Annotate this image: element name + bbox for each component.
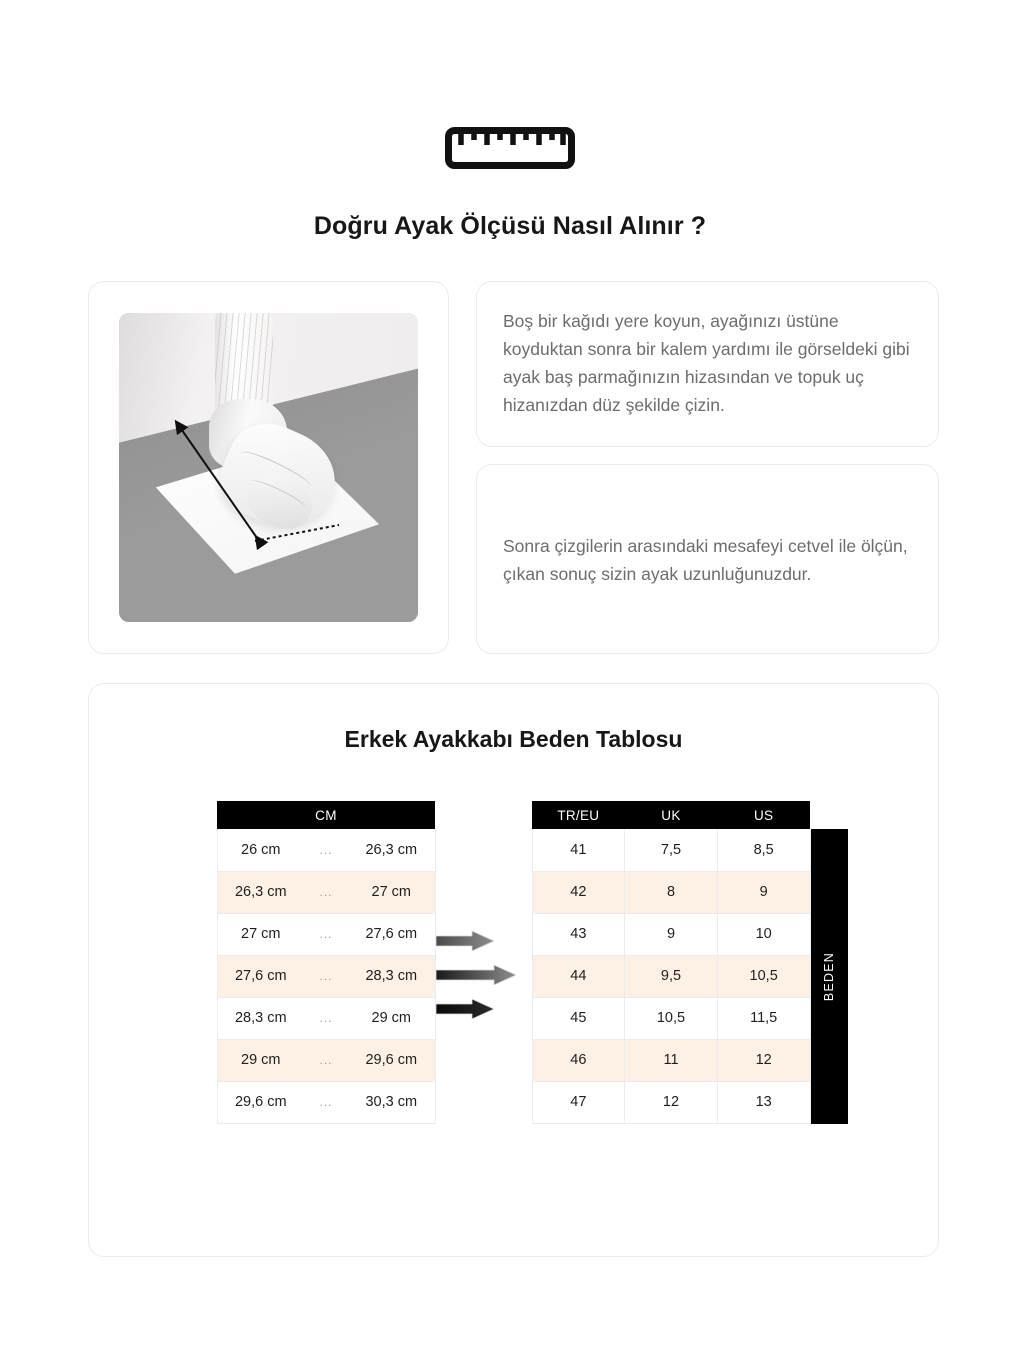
cm-separator: ... (304, 1081, 348, 1123)
arrow-short-bottom-icon (436, 999, 494, 1024)
cm-from: 26,3 cm (217, 871, 304, 913)
size-chart-card: Erkek Ayakkabı Beden Tablosu CM 26 cm ..… (88, 683, 939, 1257)
size-header-row: TR/EU UK US (532, 801, 810, 829)
cell-uk: 9 (625, 913, 718, 955)
size-table-body: 41 7,5 8,5 42 8 9 43 9 10 (532, 829, 810, 1123)
size-guide-page: Doğru Ayak Ölçüsü Nasıl Alınır ? (0, 0, 1020, 1360)
beden-side-label-text: BEDEN (822, 952, 836, 1001)
table-row: 27 cm ... 27,6 cm (217, 913, 435, 955)
table-row: 47 12 13 (532, 1081, 810, 1123)
cm-to: 26,3 cm (348, 829, 435, 871)
cm-to: 27,6 cm (348, 913, 435, 955)
ruler-icon-wrap (0, 120, 1020, 180)
table-row: 46 11 12 (532, 1039, 810, 1081)
cell-uk: 9,5 (625, 955, 718, 997)
cell-tr-eu: 44 (532, 955, 625, 997)
cm-to: 29,6 cm (348, 1039, 435, 1081)
cm-from: 29,6 cm (217, 1081, 304, 1123)
table-row: 42 8 9 (532, 871, 810, 913)
cm-from: 26 cm (217, 829, 304, 871)
size-table: TR/EU UK US 41 7,5 8,5 42 8 (532, 801, 811, 1124)
cm-table-body: 26 cm ... 26,3 cm 26,3 cm ... 27 cm 27 c… (217, 829, 435, 1123)
cm-separator: ... (304, 871, 348, 913)
cell-tr-eu: 45 (532, 997, 625, 1039)
cell-tr-eu: 42 (532, 871, 625, 913)
cm-table-head: CM (217, 801, 435, 829)
cm-table: CM 26 cm ... 26,3 cm 26,3 cm ... 27 cm (217, 801, 436, 1124)
size-table-head: TR/EU UK US (532, 801, 810, 829)
cell-uk: 8 (625, 871, 718, 913)
cell-us: 13 (717, 1081, 810, 1123)
table-row: 41 7,5 8,5 (532, 829, 810, 871)
cell-us: 9 (717, 871, 810, 913)
size-header-uk: UK (625, 801, 718, 829)
cm-separator: ... (304, 955, 348, 997)
cm-separator: ... (304, 997, 348, 1039)
table-row: 29,6 cm ... 30,3 cm (217, 1081, 435, 1123)
foot-measure-photo (119, 313, 418, 622)
cell-uk: 10,5 (625, 997, 718, 1039)
arrow-long-middle-icon (436, 965, 516, 990)
cm-separator: ... (304, 913, 348, 955)
table-row: 27,6 cm ... 28,3 cm (217, 955, 435, 997)
cm-to: 28,3 cm (348, 955, 435, 997)
size-header-us: US (717, 801, 810, 829)
cm-to: 29 cm (348, 997, 435, 1039)
cell-us: 10,5 (717, 955, 810, 997)
cm-separator: ... (304, 1039, 348, 1081)
cell-tr-eu: 47 (532, 1081, 625, 1123)
cm-from: 28,3 cm (217, 997, 304, 1039)
cm-to: 27 cm (348, 871, 435, 913)
instructions-column: Boş bir kağıdı yere koyun, ayağınızı üst… (476, 281, 939, 654)
cm-header-cell: CM (217, 801, 435, 829)
page-title: Doğru Ayak Ölçüsü Nasıl Alınır ? (0, 212, 1020, 241)
cell-tr-eu: 43 (532, 913, 625, 955)
instruction-text-2: Sonra çizgilerin arasındaki mesafeyi cet… (503, 532, 912, 588)
cm-from: 27 cm (217, 913, 304, 955)
cell-uk: 7,5 (625, 829, 718, 871)
intro-section: Boş bir kağıdı yere koyun, ayağınızı üst… (88, 281, 939, 654)
table-row: 26,3 cm ... 27 cm (217, 871, 435, 913)
size-chart-title: Erkek Ayakkabı Beden Tablosu (89, 726, 938, 753)
cm-separator: ... (304, 829, 348, 871)
table-row: 45 10,5 11,5 (532, 997, 810, 1039)
photo-measure-annotation (119, 313, 418, 622)
cell-us: 10 (717, 913, 810, 955)
cell-tr-eu: 46 (532, 1039, 625, 1081)
instruction-card-1: Boş bir kağıdı yere koyun, ayağınızı üst… (476, 281, 939, 447)
table-row: 43 9 10 (532, 913, 810, 955)
foot-measure-photo-card (88, 281, 449, 654)
cell-uk: 12 (625, 1081, 718, 1123)
table-row: 29 cm ... 29,6 cm (217, 1039, 435, 1081)
cm-from: 27,6 cm (217, 955, 304, 997)
instruction-text-1: Boş bir kağıdı yere koyun, ayağınızı üst… (503, 307, 912, 419)
conversion-arrows (436, 801, 532, 1024)
cm-header-row: CM (217, 801, 435, 829)
cm-to: 30,3 cm (348, 1081, 435, 1123)
cell-us: 8,5 (717, 829, 810, 871)
table-row: 44 9,5 10,5 (532, 955, 810, 997)
table-row: 28,3 cm ... 29 cm (217, 997, 435, 1039)
size-chart-tables: CM 26 cm ... 26,3 cm 26,3 cm ... 27 cm (89, 801, 938, 1124)
cell-us: 12 (717, 1039, 810, 1081)
cell-uk: 11 (625, 1039, 718, 1081)
cm-from: 29 cm (217, 1039, 304, 1081)
size-table-block: TR/EU UK US 41 7,5 8,5 42 8 (532, 801, 811, 1124)
ruler-icon (445, 127, 575, 174)
table-row: 26 cm ... 26,3 cm (217, 829, 435, 871)
page-header: Doğru Ayak Ölçüsü Nasıl Alınır ? (0, 120, 1020, 241)
arrow-short-top-icon (436, 931, 494, 956)
size-header-tr-eu: TR/EU (532, 801, 625, 829)
instruction-card-2: Sonra çizgilerin arasındaki mesafeyi cet… (476, 464, 939, 654)
cell-tr-eu: 41 (532, 829, 625, 871)
cell-us: 11,5 (717, 997, 810, 1039)
beden-side-label: BEDEN (811, 829, 848, 1124)
